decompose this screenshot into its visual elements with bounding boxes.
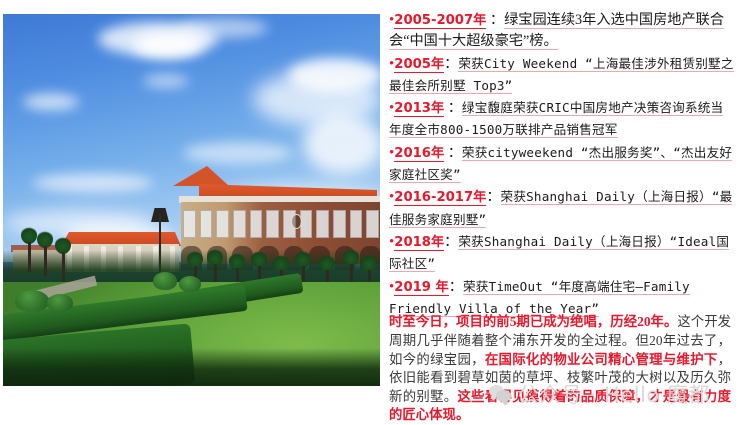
award-list-item: •2016年 ：荣获cityweekend “杰出服务奖”、“杰出友好家庭社区奖…: [389, 142, 735, 187]
award-year: 2005年: [394, 57, 444, 73]
award-list-item: •2016-2017年：荣获Shanghai Daily（上海日报）“最佳服务家…: [389, 186, 735, 231]
award-year: 2019 年: [394, 280, 448, 296]
shrub: [153, 272, 177, 290]
speech-bubble-icon: [489, 385, 511, 404]
award-year: 2013年: [394, 101, 444, 117]
shrub: [47, 294, 73, 312]
slide-canvas: •2005-2007年 ：绿宝园连续3年入选中国房地产联合会“中国十大超级豪宅”…: [0, 0, 740, 417]
clubhouse-oculus-window: [291, 214, 302, 229]
clubhouse-hip-roof: [173, 166, 229, 186]
summary-highlight: 在国际化的物业公司精心管理与维护下: [485, 352, 718, 367]
watermark-label: 公众号 · Hello 魔都: [518, 379, 710, 409]
award-year: 2018年: [394, 235, 444, 251]
cloud-shape: [33, 174, 153, 192]
cloud-shape: [303, 114, 380, 174]
award-list-item: •2005-2007年 ：绿宝园连续3年入选中国房地产联合会“中国十大超级豪宅”…: [389, 10, 735, 53]
cloud-shape: [183, 142, 293, 164]
palm-tree: [21, 226, 37, 272]
watermark: 公众号 · Hello 魔都: [489, 379, 710, 409]
award-list-item: •2013年 ：绿宝馥庭荣获CRIC中国房地产决策咨询系统当年度全市800-15…: [389, 97, 735, 142]
cloud-shape: [288, 58, 380, 92]
foreground-shadow: [3, 348, 380, 386]
award-separator: ：: [444, 234, 458, 250]
cloud-shape: [143, 74, 189, 88]
photo-scene: [3, 14, 380, 386]
award-year: 2005-2007年: [394, 13, 486, 29]
award-year: 2016年: [394, 146, 444, 162]
shrub: [15, 290, 49, 312]
award-separator: ：: [444, 100, 462, 116]
palm-tree: [55, 236, 71, 282]
award-separator: ：: [444, 145, 462, 161]
clubhouse-window-row: [183, 210, 379, 238]
award-list-item: •2005年：荣获City Weekend “上海最佳涉外租赁别墅之最佳会所别墅…: [389, 53, 735, 98]
award-separator: ：: [486, 12, 504, 28]
award-year: 2016-2017年: [394, 190, 486, 206]
cloud-shape: [178, 18, 268, 38]
shrub: [179, 276, 201, 292]
summary-highlight: 时至今日，项目的前5期已成为绝唱，历经20年。: [389, 314, 677, 329]
award-separator: ：: [444, 56, 458, 72]
awards-list: •2005-2007年 ：绿宝园连续3年入选中国房地产联合会“中国十大超级豪宅”…: [389, 10, 735, 320]
villa-photo: [3, 14, 380, 386]
award-separator: ：: [486, 189, 500, 205]
cloud-shape: [133, 32, 203, 58]
cloud-shape: [23, 94, 79, 110]
award-separator: ：: [449, 279, 463, 295]
award-list-item: •2018年：荣获Shanghai Daily（上海日报）“Ideal国际社区”: [389, 231, 735, 276]
palm-tree: [37, 230, 53, 276]
awards-text-column: •2005-2007年 ：绿宝园连续3年入选中国房地产联合会“中国十大超级豪宅”…: [389, 10, 735, 320]
